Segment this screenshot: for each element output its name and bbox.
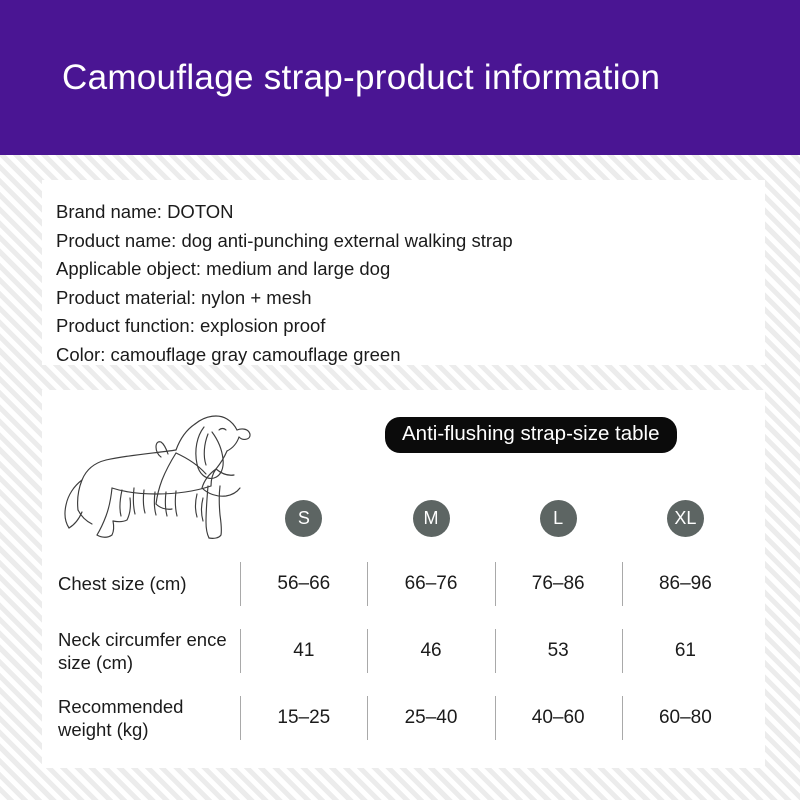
cell-recommended-weight-s: 15–25: [240, 684, 367, 751]
row-label-neck-circumference: Neck circumfer ence size (cm): [58, 617, 240, 684]
size-table-card: Anti-flushing strap-size table S M: [42, 390, 765, 768]
cell-chest-size-l: 76–86: [495, 550, 622, 617]
page-background: Camouflage strap-product information Bra…: [0, 0, 800, 800]
cell-recommended-weight-l: 40–60: [495, 684, 622, 751]
cell-chest-size-xl: 86–96: [622, 550, 749, 617]
cell-chest-size-m: 66–76: [367, 550, 494, 617]
info-line-applicable-object: Applicable object: medium and large dog: [56, 255, 765, 284]
size-badge-m: M: [413, 500, 450, 537]
info-line-color: Color: camouflage gray camouflage green: [56, 341, 765, 370]
table-row-chest-size: Chest size (cm) 56–66 66–76 76–86 86–96: [58, 550, 749, 617]
table-header-row: S M L XL: [58, 486, 749, 550]
size-badge-cell-m: M: [367, 486, 494, 550]
row-label-chest-size: Chest size (cm): [58, 550, 240, 617]
info-line-product-material: Product material: nylon + mesh: [56, 284, 765, 313]
cell-neck-circumference-xl: 61: [622, 617, 749, 684]
info-line-brand-name: Brand name: DOTON: [56, 198, 765, 227]
row-label-recommended-weight: Recommended weight (kg): [58, 684, 240, 751]
page-title: Camouflage strap-product information: [62, 58, 660, 98]
cell-recommended-weight-m: 25–40: [367, 684, 494, 751]
cell-neck-circumference-m: 46: [367, 617, 494, 684]
header-banner: Camouflage strap-product information: [0, 0, 800, 155]
product-info-card: Brand name: DOTON Product name: dog anti…: [42, 180, 765, 365]
size-badge-s: S: [285, 500, 322, 537]
table-row-recommended-weight: Recommended weight (kg) 15–25 25–40 40–6…: [58, 684, 749, 751]
size-badge-cell-xl: XL: [622, 486, 749, 550]
cell-neck-circumference-l: 53: [495, 617, 622, 684]
table-row-neck-circumference: Neck circumfer ence size (cm) 41 46 53 6…: [58, 617, 749, 684]
cell-recommended-weight-xl: 60–80: [622, 684, 749, 751]
size-badge-cell-s: S: [240, 486, 367, 550]
size-specification-table: S M L XL Chest size (cm) 56–66: [58, 486, 749, 751]
cell-chest-size-s: 56–66: [240, 550, 367, 617]
size-table-title-badge: Anti-flushing strap-size table: [385, 417, 677, 453]
cell-neck-circumference-s: 41: [240, 617, 367, 684]
info-line-product-name: Product name: dog anti-punching external…: [56, 227, 765, 256]
size-badge-xl: XL: [667, 500, 704, 537]
info-line-product-function: Product function: explosion proof: [56, 312, 765, 341]
size-badge-l: L: [540, 500, 577, 537]
header-spacer-cell: [58, 486, 240, 550]
size-badge-cell-l: L: [495, 486, 622, 550]
